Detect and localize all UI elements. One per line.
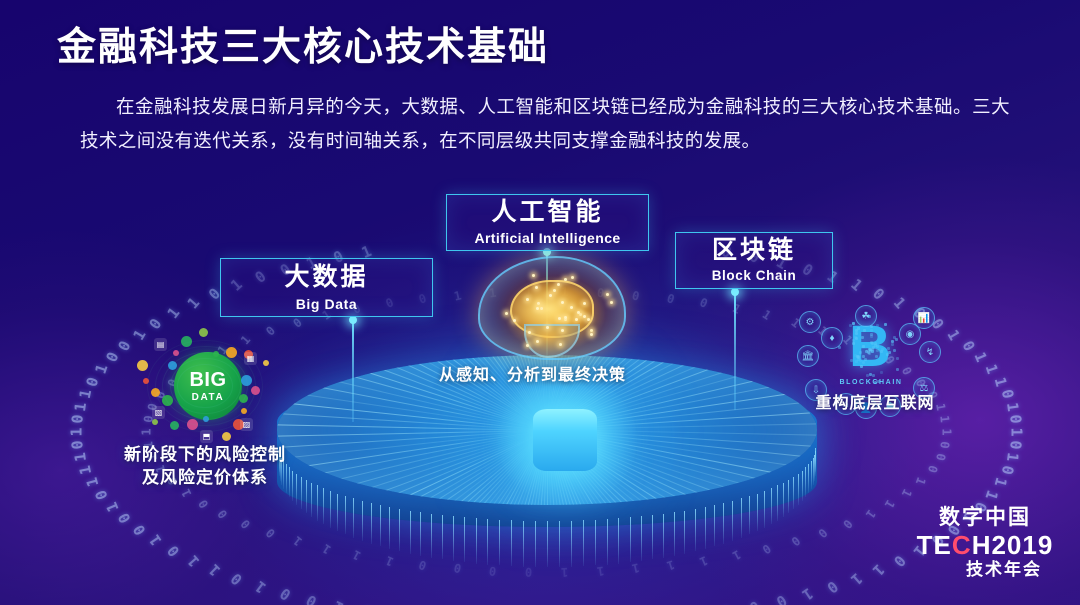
disc-rib bbox=[337, 494, 338, 532]
bigdata-node-icon bbox=[199, 328, 208, 337]
binary-digit: 1 bbox=[971, 350, 991, 365]
disc-rib bbox=[749, 496, 750, 534]
blockchain-pixel-dot bbox=[870, 329, 873, 332]
binary-digit: 1 bbox=[730, 301, 743, 317]
bigdata-node-icon bbox=[152, 419, 158, 425]
card-blockchain-title-en: Block Chain bbox=[712, 269, 797, 283]
disc-rib bbox=[618, 518, 619, 563]
binary-digit: 1 bbox=[71, 401, 90, 412]
blockchain-pixel-dot bbox=[884, 323, 887, 326]
blockchain-pixel-dot bbox=[860, 365, 863, 368]
disc-rib bbox=[583, 520, 584, 566]
disc-rib bbox=[453, 516, 454, 561]
binary-digit: 0 bbox=[68, 440, 87, 450]
caption-bigdata: 新阶段下的风险控制 及风险定价体系 bbox=[95, 443, 315, 489]
brain-synapse bbox=[505, 312, 508, 315]
brain-synapse bbox=[559, 343, 562, 346]
blockchain-pixel-dot bbox=[896, 357, 899, 360]
disc-rib bbox=[323, 488, 324, 524]
blockchain-pixel-dot bbox=[855, 332, 858, 335]
disc-core-pedestal bbox=[533, 409, 597, 471]
disc-rib bbox=[547, 521, 548, 567]
brain-synapse bbox=[540, 307, 543, 310]
blockchain-pixel-dot bbox=[881, 348, 884, 351]
disc-rib bbox=[811, 461, 812, 489]
logo-tech-prefix: TE bbox=[917, 530, 952, 560]
brain-synapse bbox=[536, 307, 539, 310]
disc-rib bbox=[805, 467, 806, 497]
bigdata-cluster-icon: BIG DATA ▤▦▧▨⬒ bbox=[140, 330, 270, 448]
binary-digit: 1 bbox=[982, 488, 1002, 502]
binary-digit: 1 bbox=[76, 388, 95, 400]
binary-digit: 0 bbox=[91, 488, 111, 502]
disc-rib bbox=[684, 511, 685, 554]
connector-line-blockchain bbox=[734, 292, 736, 410]
binary-digit: 0 bbox=[816, 526, 831, 541]
binary-digit: 1 bbox=[869, 560, 888, 579]
bigdata-chip-icon: ⬒ bbox=[200, 430, 213, 443]
disc-rib bbox=[595, 520, 596, 566]
disc-rib bbox=[674, 512, 675, 555]
blockchain-node-icon: ◉ bbox=[899, 323, 921, 345]
disc-rib bbox=[464, 517, 465, 562]
binary-digit: 0 bbox=[215, 507, 231, 521]
caption-bigdata-line1: 新阶段下的风险控制 bbox=[95, 443, 315, 466]
blockchain-pixel-dot bbox=[874, 342, 877, 345]
binary-digit: 0 bbox=[773, 591, 790, 605]
brain-synapse bbox=[561, 329, 564, 332]
binary-digit: 1 bbox=[631, 561, 641, 576]
binary-digit: 1 bbox=[183, 551, 202, 570]
disc-rib bbox=[442, 515, 443, 559]
disc-rib bbox=[705, 507, 706, 549]
blockchain-pixel-dot bbox=[893, 336, 896, 339]
disc-rib bbox=[317, 485, 318, 520]
brain-synapse bbox=[583, 315, 586, 318]
card-ai-title-cn: 人工智能 bbox=[491, 200, 603, 225]
disc-rib bbox=[330, 491, 331, 528]
disc-rib bbox=[476, 518, 477, 563]
binary-digit: 0 bbox=[227, 569, 246, 588]
disc-rib bbox=[695, 509, 696, 551]
connector-knob-icon bbox=[731, 288, 739, 296]
card-blockchain[interactable]: 区块链 Block Chain bbox=[675, 232, 833, 289]
page-title: 金融科技三大核心技术基础 bbox=[57, 16, 549, 72]
binary-digit: 0 bbox=[869, 285, 888, 304]
binary-digit: 1 bbox=[251, 577, 269, 597]
disc-rib bbox=[420, 512, 421, 555]
disc-rib bbox=[559, 521, 560, 567]
binary-digit: 1 bbox=[1003, 401, 1022, 412]
binary-digit: 1 bbox=[596, 563, 605, 578]
disc-rib bbox=[771, 488, 772, 524]
binary-digit: 1 bbox=[982, 362, 1002, 376]
binary-digit: 0 bbox=[290, 315, 304, 330]
blockchain-pixel-dot bbox=[888, 351, 891, 354]
binary-digit: 1 bbox=[76, 464, 95, 476]
binary-digit: 1 bbox=[847, 276, 866, 295]
brain-synapse bbox=[526, 298, 529, 301]
blockchain-pixel-dot bbox=[891, 343, 894, 346]
logo-line-digital-china: 数字中国 bbox=[905, 505, 1065, 531]
disc-rib bbox=[345, 496, 346, 534]
logo-tech-accent: C bbox=[952, 530, 972, 560]
bigdata-chip-icon: ▦ bbox=[244, 352, 257, 365]
disc-rib bbox=[741, 498, 742, 537]
event-logo: 数字中国 TECH2019 技术年会 bbox=[905, 505, 1065, 590]
binary-digit: 0 bbox=[938, 440, 953, 448]
binary-digit: 1 bbox=[760, 307, 774, 323]
disc-rib bbox=[757, 494, 758, 532]
binary-digit: 1 bbox=[102, 499, 122, 514]
binary-digit: 1 bbox=[331, 597, 347, 605]
binary-digit: 0 bbox=[958, 338, 978, 354]
blockchain-node-icon: ⚙ bbox=[799, 311, 821, 333]
blockchain-pixel-dot bbox=[859, 351, 862, 354]
disc-rib bbox=[410, 511, 411, 554]
disc-rib bbox=[353, 498, 354, 537]
binary-digit: 0 bbox=[303, 591, 320, 605]
binary-digit: 0 bbox=[129, 521, 149, 538]
logo-line-annual-conference: 技术年会 bbox=[943, 559, 1065, 581]
blockchain-pixel-dot bbox=[852, 342, 855, 345]
disc-rib bbox=[714, 505, 715, 546]
disc-rib bbox=[793, 477, 794, 510]
binary-digit: 1 bbox=[1003, 452, 1022, 463]
binary-digit: 1 bbox=[991, 375, 1011, 388]
logo-year: 2019 bbox=[991, 530, 1053, 560]
ai-brain-icon bbox=[468, 250, 636, 368]
binary-digit: 0 bbox=[83, 375, 103, 388]
blockchain-pixel-dot bbox=[896, 368, 899, 371]
card-artificial-intelligence[interactable]: 人工智能 Artificial Intelligence bbox=[446, 194, 649, 251]
caption-blockchain: 重构底层互联网 bbox=[785, 392, 965, 415]
binary-digit: 1 bbox=[1008, 427, 1026, 436]
disc-rib bbox=[399, 509, 400, 551]
binary-digit: 0 bbox=[746, 597, 762, 605]
blockchain-pixel-dot bbox=[880, 371, 883, 374]
blockchain-pixel-dot bbox=[891, 340, 894, 343]
blockchain-word-label: BLOCKCHAIN bbox=[833, 379, 909, 386]
blockchain-pixel-dot bbox=[872, 374, 875, 377]
card-bigdata[interactable]: 大数据 Big Data bbox=[220, 258, 433, 317]
binary-digit: 1 bbox=[882, 497, 898, 510]
binary-digit: 1 bbox=[899, 486, 915, 499]
disc-rib bbox=[723, 503, 724, 544]
disc-rib bbox=[362, 501, 363, 541]
binary-digit: 0 bbox=[998, 464, 1017, 476]
binary-digit: 1 bbox=[91, 362, 111, 376]
disc-rib bbox=[523, 521, 524, 567]
blockchain-node-icon: ☘ bbox=[855, 305, 877, 327]
binary-digit: 1 bbox=[71, 452, 90, 463]
blockchain-pixel-dot bbox=[838, 346, 841, 349]
blockchain-pixel-dot bbox=[855, 329, 858, 332]
bigdata-node-icon bbox=[222, 432, 231, 441]
disc-rib bbox=[630, 517, 631, 562]
blockchain-pixel-dot bbox=[876, 324, 879, 327]
disc-rib bbox=[732, 501, 733, 541]
blockchain-pixel-dot bbox=[893, 349, 896, 352]
brain-synapse bbox=[587, 318, 590, 321]
bigdata-node-icon bbox=[137, 360, 148, 371]
connector-knob-icon bbox=[349, 316, 357, 324]
binary-digit: 0 bbox=[102, 350, 122, 365]
binary-digit: 1 bbox=[799, 584, 817, 604]
binary-digit: 1 bbox=[146, 532, 166, 550]
binary-digit: 1 bbox=[453, 288, 463, 303]
blockchain-pixel-dot bbox=[876, 349, 879, 352]
disc-rib bbox=[389, 507, 390, 549]
connector-line-bigdata bbox=[352, 320, 354, 422]
binary-digit: 1 bbox=[913, 475, 929, 487]
binary-digit: 0 bbox=[998, 388, 1017, 400]
disc-rib bbox=[802, 471, 803, 502]
disc-rib bbox=[535, 521, 536, 567]
binary-digit: 1 bbox=[940, 428, 954, 435]
logo-tech-tail: H bbox=[972, 530, 992, 560]
disc-rib bbox=[511, 520, 512, 566]
disc-rib bbox=[380, 505, 381, 546]
caption-ai: 从感知、分析到最终决策 bbox=[420, 364, 645, 387]
card-ai-title-en: Artificial Intelligence bbox=[474, 231, 620, 245]
card-blockchain-title-cn: 区块链 bbox=[712, 238, 796, 263]
binary-digit: 1 bbox=[938, 415, 953, 423]
disc-rib bbox=[764, 491, 765, 528]
blockchain-pixel-dot bbox=[861, 336, 864, 339]
disc-rib bbox=[487, 519, 488, 564]
card-bigdata-title-en: Big Data bbox=[296, 297, 358, 311]
binary-digit: 1 bbox=[68, 427, 86, 436]
binary-digit: 0 bbox=[698, 295, 710, 311]
binary-digit: 0 bbox=[115, 510, 135, 526]
binary-digit: 1 bbox=[847, 569, 866, 588]
body-paragraph: 在金融科技发展日新月异的今天，大数据、人工智能和区块链已经成为金融科技的三大核心… bbox=[80, 90, 1010, 158]
blockchain-node-icon: 🏛 bbox=[797, 345, 819, 367]
blockchain-pixel-dot bbox=[850, 359, 853, 362]
binary-digit: 1 bbox=[943, 326, 963, 343]
binary-digit: 0 bbox=[453, 561, 463, 576]
binary-digit: 1 bbox=[991, 476, 1011, 489]
logo-line-tech2019: TECH2019 bbox=[905, 531, 1065, 559]
disc-rib bbox=[652, 515, 653, 559]
binary-digit: 0 bbox=[115, 338, 135, 354]
binary-digit: 1 bbox=[205, 560, 224, 579]
binary-digit: 1 bbox=[862, 507, 878, 521]
binary-digit: 0 bbox=[488, 563, 497, 578]
binary-digit: 1 bbox=[183, 294, 202, 313]
binary-digit: 0 bbox=[924, 464, 939, 475]
binary-digit: 0 bbox=[933, 452, 948, 462]
bigdata-chip-icon: ▨ bbox=[240, 418, 253, 431]
binary-digit: 1 bbox=[561, 565, 569, 579]
binary-digit: 1 bbox=[164, 304, 184, 322]
bigdata-chip-icon: ▧ bbox=[152, 406, 165, 419]
bigdata-node-icon bbox=[263, 360, 269, 366]
binary-digit: 0 bbox=[1006, 440, 1025, 450]
brain-synapse bbox=[564, 278, 567, 281]
brain-synapse bbox=[571, 276, 574, 279]
binary-digit: 0 bbox=[238, 517, 253, 532]
brain-synapse bbox=[536, 340, 539, 343]
binary-digit: 0 bbox=[824, 577, 842, 597]
binary-digit: 0 bbox=[525, 565, 533, 579]
binary-digit: 0 bbox=[68, 414, 87, 424]
binary-digit: 0 bbox=[164, 542, 184, 560]
binary-digit: 0 bbox=[840, 517, 855, 532]
disc-rib bbox=[783, 483, 784, 517]
caption-bigdata-line2: 及风险定价体系 bbox=[95, 466, 315, 489]
disc-rib bbox=[607, 519, 608, 564]
disc-rib bbox=[663, 514, 664, 558]
binary-digit: 0 bbox=[665, 291, 676, 307]
blockchain-pixel-dot bbox=[871, 350, 874, 353]
brain-synapse bbox=[590, 329, 593, 332]
disc-rib bbox=[571, 521, 572, 567]
binary-digit: 0 bbox=[263, 526, 278, 541]
blockchain-pixel-dot bbox=[857, 356, 860, 359]
brain-synapse bbox=[535, 286, 538, 289]
disc-rib bbox=[371, 503, 372, 544]
card-bigdata-title-cn: 大数据 bbox=[284, 265, 368, 290]
blockchain-pixel-dot bbox=[875, 355, 878, 358]
disc-rib bbox=[431, 514, 432, 558]
binary-digit: 0 bbox=[277, 584, 295, 604]
disc-rib bbox=[641, 516, 642, 561]
binary-digit: 0 bbox=[1006, 414, 1025, 424]
disc-rib bbox=[798, 474, 799, 506]
blockchain-node-icon: ↯ bbox=[919, 341, 941, 363]
bigdata-chip-icon: ▤ bbox=[154, 338, 167, 351]
slide-canvas: 1010110100101101001011010010110100101101… bbox=[0, 0, 1080, 605]
binary-digit: 0 bbox=[195, 497, 211, 510]
blockchain-pixel-dot bbox=[862, 345, 865, 348]
disc-rib bbox=[499, 520, 500, 566]
